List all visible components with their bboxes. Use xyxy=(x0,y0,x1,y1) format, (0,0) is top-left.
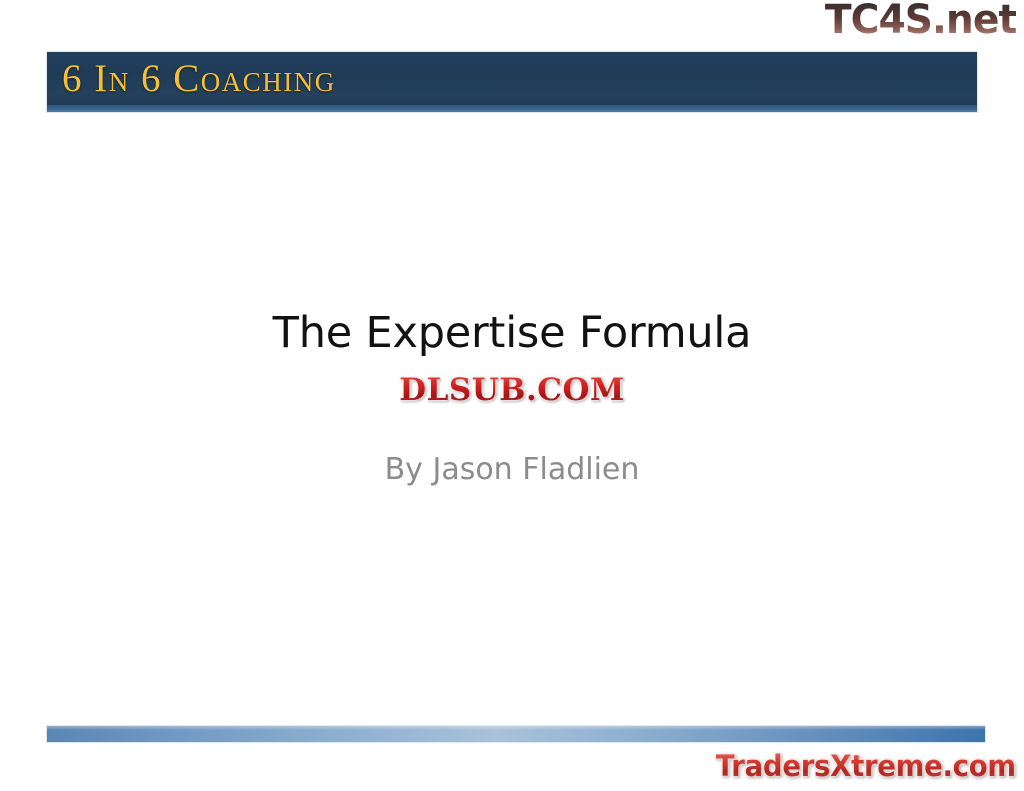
subtitle-block: By Jason Fladlien xyxy=(0,450,1024,490)
dlsub-watermark: DLSUB.COM xyxy=(399,373,625,407)
slide-title: The Expertise Formula xyxy=(0,305,1024,361)
tc4s-watermark: TC4S.net xyxy=(825,0,1016,42)
header-banner: 6 In 6 Coaching xyxy=(47,52,977,112)
tradersxtreme-watermark: TradersXtreme.com xyxy=(716,748,1016,784)
title-block: The Expertise Formula xyxy=(0,305,1024,361)
slide-subtitle: By Jason Fladlien xyxy=(0,450,1024,490)
footer-accent-bar xyxy=(47,726,985,742)
presentation-slide: TC4S.net 6 In 6 Coaching The Expertise F… xyxy=(0,0,1024,791)
banner-title: 6 In 6 Coaching xyxy=(62,54,336,104)
